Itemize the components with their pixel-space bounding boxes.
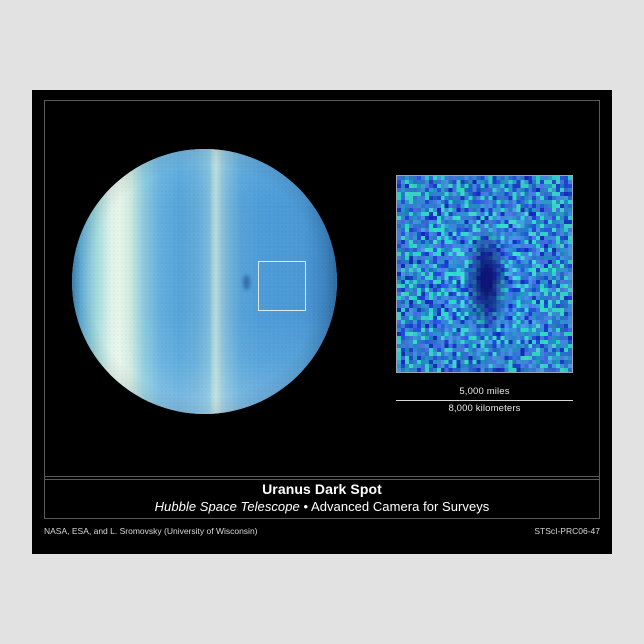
caption-box: Uranus Dark Spot Hubble Space Telescope … [44,476,600,519]
dark-spot-detail-inset [396,175,573,373]
dark-spot-detail-pixels [397,176,572,372]
credit-attribution: NASA, ESA, and L. Sromovsky (University … [44,524,258,538]
poster-canvas: 5,000 miles 8,000 kilometers Uranus Dark… [0,0,644,644]
main-image-area: 5,000 miles 8,000 kilometers [45,101,599,479]
poster-subtitle: Hubble Space Telescope • Advanced Camera… [155,498,490,515]
scale-bar-kilometers-label: 8,000 kilometers [396,402,573,415]
scale-bar: 5,000 miles 8,000 kilometers [396,385,573,415]
dark-spot-locator-box [258,261,306,311]
scale-bar-rule [396,400,573,401]
credit-row: NASA, ESA, and L. Sromovsky (University … [44,524,600,538]
telescope-name: Hubble Space Telescope [155,499,300,514]
scale-bar-miles-label: 5,000 miles [396,385,573,398]
credit-catalog-number: STScI-PRC06-47 [534,524,600,538]
poster-title: Uranus Dark Spot [262,481,382,498]
poster-print-area: 5,000 miles 8,000 kilometers Uranus Dark… [32,90,612,554]
instrument-name: • Advanced Camera for Surveys [300,499,490,514]
